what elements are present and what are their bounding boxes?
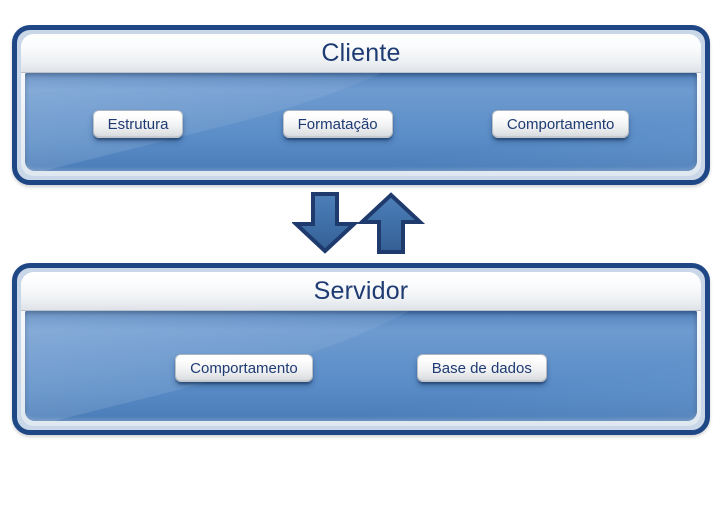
panel-servidor-title: Servidor (314, 279, 409, 304)
item-comportamento-cliente[interactable]: Comportamento (492, 110, 630, 138)
panel-servidor-body: Comportamento Base de dados (25, 310, 697, 421)
panel-servidor-title-bar: Servidor (21, 272, 701, 310)
item-comportamento-servidor[interactable]: Comportamento (175, 354, 313, 382)
panel-servidor-inner: Servidor Comportamento Base de dados (21, 272, 701, 426)
connector-arrows (292, 192, 432, 254)
panel-cliente-items: Estrutura Formatação Comportamento (25, 110, 697, 138)
panel-servidor[interactable]: Servidor Comportamento Base de dados (12, 263, 710, 435)
arrow-down-icon (296, 194, 354, 251)
arrow-up-icon (362, 195, 420, 252)
panel-servidor-items: Comportamento Base de dados (25, 354, 697, 382)
item-estrutura[interactable]: Estrutura (93, 110, 184, 138)
panel-cliente[interactable]: Cliente Estrutura Formatação Comportamen… (12, 25, 710, 185)
panel-cliente-inner: Cliente Estrutura Formatação Comportamen… (21, 34, 701, 176)
panel-cliente-title-bar: Cliente (21, 34, 701, 72)
diagram-canvas: Cliente Estrutura Formatação Comportamen… (0, 0, 724, 512)
panel-cliente-title: Cliente (321, 41, 400, 66)
panel-cliente-body: Estrutura Formatação Comportamento (25, 72, 697, 171)
item-base-de-dados[interactable]: Base de dados (417, 354, 547, 382)
item-formatacao[interactable]: Formatação (283, 110, 393, 138)
